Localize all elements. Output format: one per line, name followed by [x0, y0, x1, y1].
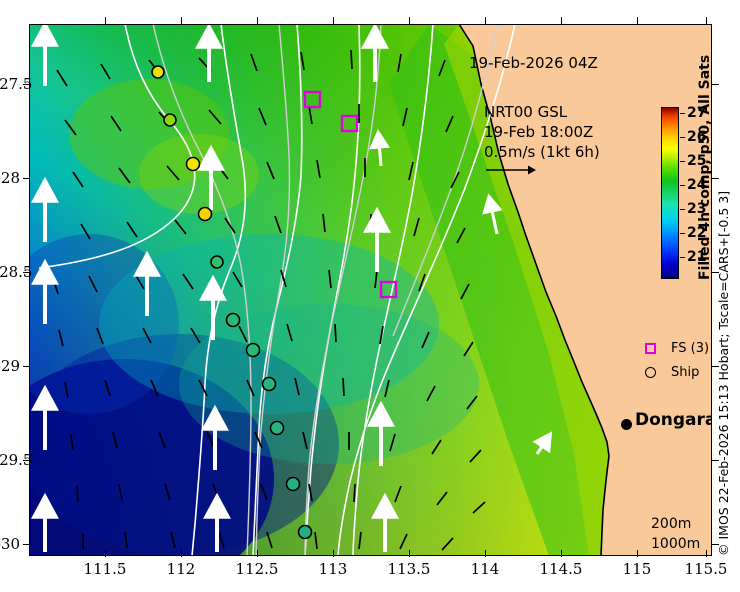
legend-item-ship[interactable]: Ship [637, 360, 709, 384]
colorbar: 27 26 25 24 23 22 21 [661, 107, 679, 279]
xtick-label-5: 114 [471, 560, 500, 578]
colorbar-gradient [661, 107, 679, 279]
model-annotation: NRT00 GSL 19-Feb 18:00Z 0.5m/s (1kt 6h) [484, 102, 600, 183]
model-valid-time: 19-Feb 18:00Z [484, 122, 600, 142]
legend-item-fs[interactable]: FS (3) [637, 336, 709, 360]
ytick-label-1: -28 [0, 169, 20, 187]
ytick-label-4: -29.5 [0, 451, 20, 469]
map-plot-area[interactable]: 19-Feb-2026 04Z NRT00 GSL 19-Feb 18:00Z … [29, 24, 712, 556]
ship-circle-icon [637, 367, 663, 378]
fs-station-layer[interactable] [29, 24, 712, 556]
contour-1000m-label: 1000m [651, 534, 705, 554]
xtick-label-2: 112.5 [236, 560, 279, 578]
model-name: NRT00 GSL [484, 102, 600, 122]
legend-ship-label: Ship [671, 365, 699, 380]
city-marker-dongara [621, 419, 632, 430]
ytick-label-3: -29 [0, 357, 20, 375]
ytick-label-2: -28.5 [0, 263, 20, 281]
date-stamp: 19-Feb-2026 04Z [469, 54, 598, 72]
colorbar-title: Filled 4h comp, p50, All Sats [697, 108, 712, 280]
contour-200m-label: 200m [651, 514, 705, 534]
credit-text: © IMOS 22-Feb-2026 15:13 Hobart; Tscale=… [714, 176, 736, 576]
sst-map-figure: 19-Feb-2026 04Z NRT00 GSL 19-Feb 18:00Z … [0, 0, 740, 592]
fs-square-icon [637, 343, 663, 354]
xtick-label-3: 113 [319, 560, 348, 578]
xtick-label-6: 114.5 [540, 560, 583, 578]
depth-contour-key: 200m 1000m [651, 514, 705, 556]
xtick-label-4: 113.5 [388, 560, 431, 578]
xtick-label-7: 115 [623, 560, 652, 578]
model-speed-scale: 0.5m/s (1kt 6h) [484, 142, 600, 162]
reference-arrow-icon [484, 162, 544, 178]
credit-text-content: © IMOS 22-Feb-2026 15:13 Hobart; Tscale=… [716, 534, 731, 556]
map-legend: FS (3) Ship [637, 336, 709, 384]
ytick-label-0: -27.5 [0, 75, 20, 93]
legend-fs-label: FS (3) [671, 341, 709, 356]
colorbar-title-text: Filled 4h comp, p50, All Sats [697, 260, 712, 280]
xtick-label-1: 112 [167, 560, 196, 578]
ytick-label-5: -30 [0, 535, 20, 553]
xtick-label-0: 111.5 [84, 560, 127, 578]
city-label-dongara: Dongara [635, 410, 712, 430]
